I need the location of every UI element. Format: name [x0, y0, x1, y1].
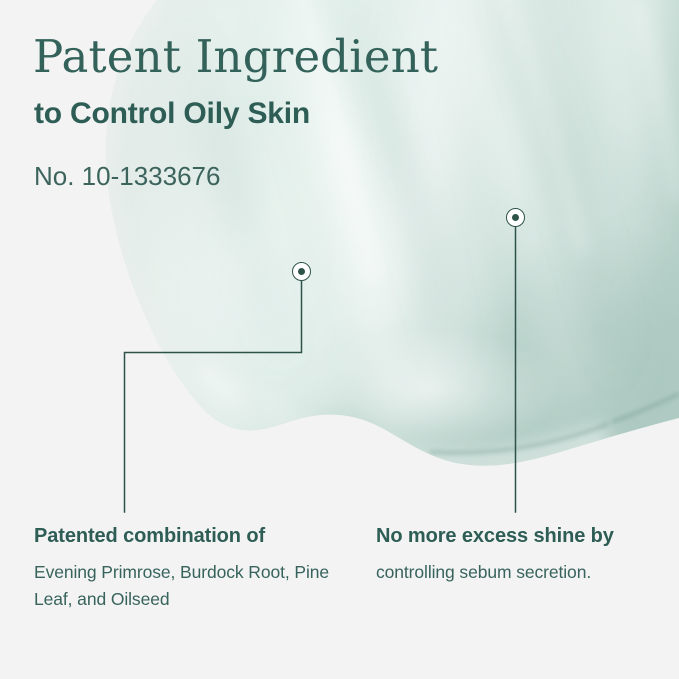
- callout-right-body: controlling sebum secretion.: [376, 559, 679, 586]
- callout-caption-left: Patented combination of Evening Primrose…: [34, 524, 354, 612]
- callout-left-body: Evening Primrose, Burdock Root, Pine Lea…: [34, 559, 354, 612]
- callout-marker-right[interactable]: [506, 208, 525, 227]
- patent-number: No. 10-1333676: [34, 163, 220, 189]
- callout-left-title: Patented combination of: [34, 524, 354, 549]
- page-subtitle: to Control Oily Skin: [34, 99, 310, 129]
- callout-marker-left[interactable]: [292, 262, 311, 281]
- callout-caption-right: No more excess shine by controlling sebu…: [376, 524, 679, 586]
- product-feature-graphic: Patent Ingredient to Control Oily Skin N…: [0, 0, 679, 679]
- page-title-serif: Patent Ingredient: [33, 34, 438, 79]
- callout-right-title: No more excess shine by: [376, 524, 679, 549]
